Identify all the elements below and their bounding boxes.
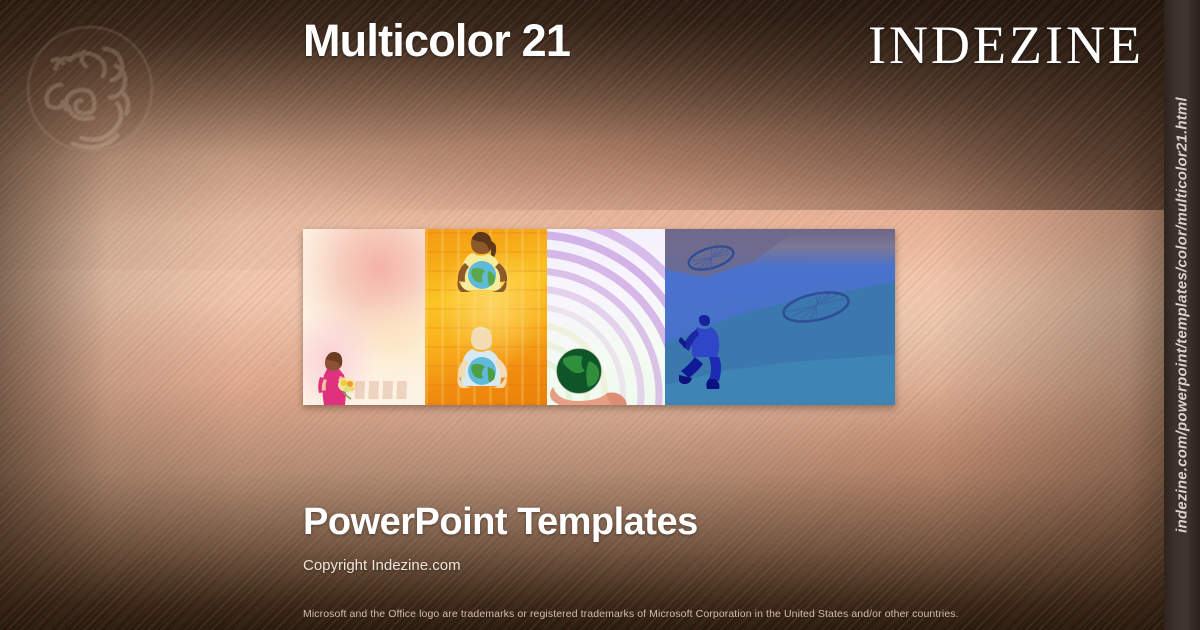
figures-holding-globes-illustration bbox=[425, 229, 547, 405]
woman-with-flowers-illustration bbox=[307, 349, 359, 405]
page-title: Multicolor 21 bbox=[303, 16, 570, 66]
thumb1-caption-scribble bbox=[355, 381, 407, 399]
celtic-swirl-emblem-icon bbox=[18, 14, 162, 164]
url-text[interactable]: indezine.com/powerpoint/templates/color/… bbox=[1174, 97, 1191, 533]
url-sidebar: indezine.com/powerpoint/templates/color/… bbox=[1164, 0, 1200, 630]
poster-canvas: Multicolor 21 INDEZINE bbox=[0, 0, 1200, 630]
globe-in-hand-illustration bbox=[547, 229, 665, 405]
brand-logo-indezine: INDEZINE bbox=[868, 14, 1144, 76]
copyright-text: Copyright Indezine.com bbox=[303, 557, 461, 574]
butterfly-net-icon-lower bbox=[779, 287, 853, 327]
template-thumbnail-strip[interactable] bbox=[303, 229, 895, 405]
slide-thumbnail-white-rings-globe[interactable] bbox=[547, 229, 665, 405]
page-subtitle: PowerPoint Templates bbox=[303, 501, 698, 544]
slide-thumbnail-peach-flowers[interactable] bbox=[303, 229, 425, 405]
slide-thumbnail-blue-butterfly-net[interactable] bbox=[665, 229, 895, 405]
slide-thumbnail-orange-globes[interactable] bbox=[425, 229, 547, 405]
trademark-disclaimer: Microsoft and the Office logo are tradem… bbox=[303, 608, 959, 620]
butterfly-net-icon-upper bbox=[685, 243, 737, 273]
figure-running-with-net-illustration bbox=[679, 315, 735, 393]
